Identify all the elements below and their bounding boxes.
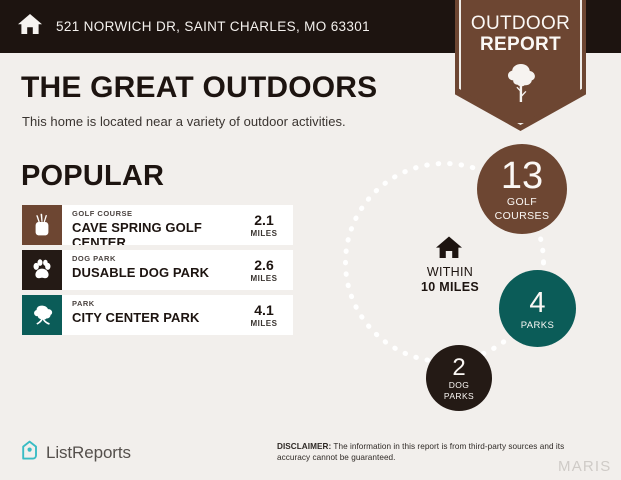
stat-label-line1: PARKS (521, 320, 555, 331)
stat-bubble-parks[interactable]: 4 PARKS (499, 270, 576, 347)
home-icon (435, 235, 463, 266)
badge-title-line1: OUTDOOR (455, 13, 586, 34)
distance-value: 2.1 (235, 213, 293, 228)
list-item-name: DUSABLE DOG PARK (72, 265, 235, 280)
list-item-text: DOG PARK DUSABLE DOG PARK (62, 250, 235, 290)
stat-bubble-dog-parks[interactable]: 2 DOG PARKS (426, 345, 492, 411)
list-item-text: GOLF COURSE CAVE SPRING GOLF CENTER (62, 205, 235, 245)
page-subtitle: This home is located near a variety of o… (22, 114, 346, 129)
listreports-house-tag-icon (20, 440, 39, 466)
list-item[interactable]: DOG PARK DUSABLE DOG PARK 2.6 MILES (22, 250, 293, 290)
list-item-name: CAVE SPRING GOLF CENTER (72, 220, 235, 245)
distance-unit: MILES (235, 228, 293, 239)
page-title: THE GREAT OUTDOORS (21, 72, 377, 104)
distance-unit: MILES (235, 318, 293, 329)
within-label: WITHIN 10 MILES (390, 265, 510, 295)
list-item[interactable]: PARK CITY CENTER PARK 4.1 MILES (22, 295, 293, 335)
stat-count: 4 (529, 289, 545, 317)
maris-watermark: MARIS (558, 458, 612, 475)
amenities-graphic: WITHIN 10 MILES 13 GOLF COURSES 4 PARKS … (330, 130, 621, 430)
distance-unit: MILES (235, 273, 293, 284)
stat-label-line2: PARKS (444, 392, 474, 402)
within-line1: WITHIN (390, 265, 510, 280)
stat-bubble-golf-courses[interactable]: 13 GOLF COURSES (477, 144, 567, 234)
tree-icon (22, 295, 62, 335)
popular-list: GOLF COURSE CAVE SPRING GOLF CENTER 2.1 … (22, 205, 293, 340)
stat-label-line1: DOG (449, 381, 470, 391)
stat-label-line1: GOLF (507, 197, 537, 208)
within-line2: 10 MILES (390, 280, 510, 295)
disclaimer-label: DISCLAIMER: (277, 442, 331, 451)
disclaimer: DISCLAIMER: The information in this repo… (277, 441, 597, 463)
badge-title: OUTDOOR REPORT (455, 13, 586, 55)
paw-print-icon (22, 250, 62, 290)
popular-heading: POPULAR (21, 160, 164, 193)
distance-value: 4.1 (235, 303, 293, 318)
badge-title-line2: REPORT (455, 34, 586, 55)
list-item-category: PARK (72, 299, 235, 308)
list-item-distance: 2.6 MILES (235, 250, 293, 290)
listreports-logo[interactable]: ListReports (20, 440, 131, 466)
property-address: 521 NORWICH DR, SAINT CHARLES, MO 63301 (56, 19, 370, 34)
stat-label-line2: COURSES (495, 211, 550, 222)
list-item-name: CITY CENTER PARK (72, 310, 235, 325)
list-item-category: DOG PARK (72, 254, 235, 263)
stat-count: 2 (452, 356, 465, 379)
distance-value: 2.6 (235, 258, 293, 273)
outdoor-report-badge: OUTDOOR REPORT (455, 0, 586, 131)
tree-icon (506, 62, 536, 109)
stat-count: 13 (501, 158, 543, 194)
list-item-distance: 4.1 MILES (235, 295, 293, 335)
home-icon (17, 12, 43, 41)
list-item[interactable]: GOLF COURSE CAVE SPRING GOLF CENTER 2.1 … (22, 205, 293, 245)
list-item-category: GOLF COURSE (72, 209, 235, 218)
outdoor-report-page: 521 NORWICH DR, SAINT CHARLES, MO 63301 … (0, 0, 621, 480)
golf-bag-icon (22, 205, 62, 245)
list-item-distance: 2.1 MILES (235, 205, 293, 245)
listreports-wordmark: ListReports (46, 443, 131, 463)
list-item-text: PARK CITY CENTER PARK (62, 295, 235, 335)
